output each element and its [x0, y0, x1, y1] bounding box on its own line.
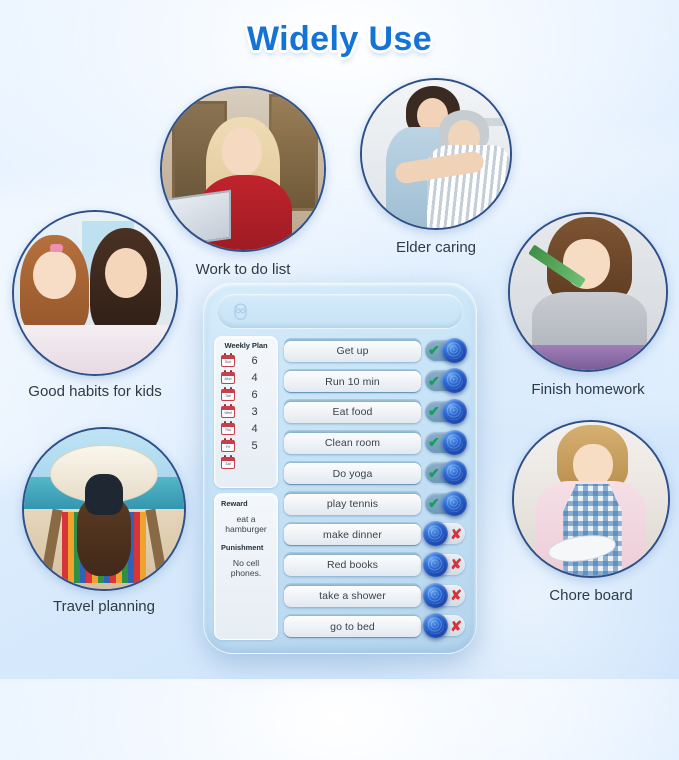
task-row: make dinner ✘ [284, 520, 466, 549]
punishment-label: Punishment [219, 543, 273, 552]
weekly-plan-row: Thu 4 [218, 420, 274, 437]
toggle-knob[interactable] [442, 338, 467, 363]
bubble-finish-homework: Finish homework [508, 212, 668, 398]
weekly-plan-rows: Sun 6 Mon 4 Tue 6 Wed 3 [218, 352, 274, 471]
toggle-knob[interactable] [442, 399, 467, 424]
check-icon: ✔ [428, 343, 440, 357]
task-card-slot: make dinner [284, 522, 421, 546]
task-toggle[interactable]: ✘ [424, 614, 466, 637]
check-icon: ✔ [428, 466, 440, 480]
task-card-slot: Clean room [284, 430, 421, 454]
toggle-knob[interactable] [442, 430, 467, 455]
bubble-caption: Travel planning [22, 598, 186, 615]
reward-punishment-panel: Reward eat a hamburger Punishment No cel… [214, 493, 278, 640]
task-card-slot: Eat food [284, 399, 421, 423]
weekly-plan-value: 5 [235, 440, 274, 452]
toggle-knob[interactable] [423, 613, 448, 638]
reward-label: Reward [219, 499, 273, 508]
page-title: Widely Use [0, 20, 679, 59]
weekly-plan-value: 4 [235, 372, 274, 384]
calendar-icon-tue: Tue [221, 389, 235, 401]
task-label[interactable]: Do yoga [284, 463, 421, 484]
calendar-icon-sun: Sun [221, 355, 235, 367]
task-label[interactable]: make dinner [284, 524, 421, 545]
task-card-slot: Get up [284, 338, 421, 362]
weekly-plan-value: 3 [235, 406, 274, 418]
bubble-caption: Finish homework [508, 381, 668, 398]
task-card-slot: play tennis [284, 491, 421, 515]
calendar-icon-wed: Wed [221, 406, 235, 418]
weekly-plan-row: Mon 4 [218, 369, 274, 386]
task-label[interactable]: play tennis [284, 494, 421, 515]
task-label[interactable]: Run 10 min [284, 371, 421, 392]
photo-girl-writing [508, 212, 668, 372]
task-toggle[interactable]: ✔ [424, 461, 466, 484]
task-row: take a shower ✘ [284, 581, 466, 610]
task-card-slot: Run 10 min [284, 369, 421, 393]
toggle-knob[interactable] [442, 460, 467, 485]
check-icon: ✔ [428, 404, 440, 418]
task-row: Get up ✔ [284, 336, 466, 365]
calendar-icon-thu: Thu [221, 423, 235, 435]
toggle-knob[interactable] [423, 552, 448, 577]
weekly-plan-row: Fri 5 [218, 437, 274, 454]
punishment-value: No cell phones. [219, 552, 273, 587]
cross-icon: ✘ [450, 557, 462, 571]
task-row: go to bed ✘ [284, 611, 466, 640]
task-list: Get up ✔ Run 10 min ✔ [284, 336, 466, 640]
task-row: Do yoga ✔ [284, 458, 466, 487]
weekly-plan-value: 6 [235, 355, 274, 367]
task-label[interactable]: Get up [284, 341, 421, 362]
weekly-plan-panel: Weekly Plan Sun 6 Mon 4 Tue 6 [214, 336, 278, 488]
weekly-plan-title: Weekly Plan [218, 341, 274, 350]
bubble-caption: Work to do list [160, 261, 326, 278]
task-row: play tennis ✔ [284, 489, 466, 518]
bubble-travel-planning: Travel planning [22, 427, 186, 615]
calendar-icon-fri: Fri [221, 440, 235, 452]
bubble-caption: Chore board [512, 587, 670, 604]
chore-board-device: Weekly Plan Sun 6 Mon 4 Tue 6 [203, 282, 477, 654]
task-card-slot: go to bed [284, 614, 421, 638]
owl-icon [231, 302, 250, 321]
cross-icon: ✘ [450, 588, 462, 602]
task-row: Eat food ✔ [284, 397, 466, 426]
task-row: Run 10 min ✔ [284, 367, 466, 396]
task-row: Red books ✘ [284, 550, 466, 579]
device-header-bar [217, 294, 463, 328]
toggle-knob[interactable] [442, 368, 467, 393]
calendar-icon-sat: Sat [221, 457, 235, 469]
toggle-knob[interactable] [442, 491, 467, 516]
photo-two-girls-studying [12, 210, 178, 376]
weekly-plan-row: Sat [218, 454, 274, 471]
bubble-caption: Elder caring [360, 239, 512, 256]
photo-caregiver-and-senior [360, 78, 512, 230]
task-label[interactable]: Eat food [284, 402, 421, 423]
task-toggle[interactable]: ✘ [424, 553, 466, 576]
photo-woman-at-laptop [160, 86, 326, 252]
task-card-slot: take a shower [284, 583, 421, 607]
bubble-work-to-do-list: Work to do list [160, 86, 326, 278]
cross-icon: ✘ [450, 527, 462, 541]
task-label[interactable]: go to bed [284, 616, 421, 637]
calendar-icon-mon: Mon [221, 372, 235, 384]
task-toggle[interactable]: ✔ [424, 339, 466, 362]
weekly-plan-row: Tue 6 [218, 386, 274, 403]
task-toggle[interactable]: ✔ [424, 400, 466, 423]
bubble-good-habits-for-kids: Good habits for kids [12, 210, 178, 400]
task-toggle[interactable]: ✘ [424, 522, 466, 545]
photo-girl-washing-dish [512, 420, 670, 578]
check-icon: ✔ [428, 496, 440, 510]
check-icon: ✔ [428, 374, 440, 388]
task-toggle[interactable]: ✔ [424, 492, 466, 515]
weekly-plan-value: 4 [235, 423, 274, 435]
task-toggle[interactable]: ✘ [424, 584, 466, 607]
toggle-knob[interactable] [423, 583, 448, 608]
task-label[interactable]: Clean room [284, 433, 421, 454]
reward-value: eat a hamburger [219, 508, 273, 543]
task-card-slot: Do yoga [284, 461, 421, 485]
task-toggle[interactable]: ✔ [424, 369, 466, 392]
task-card-slot: Red books [284, 552, 421, 576]
task-toggle[interactable]: ✔ [424, 431, 466, 454]
photo-woman-beach-chair [22, 427, 186, 591]
task-label[interactable]: Red books [284, 555, 421, 576]
task-row: Clean room ✔ [284, 428, 466, 457]
weekly-plan-row: Sun 6 [218, 352, 274, 369]
bubble-elder-caring: Elder caring [360, 78, 512, 256]
check-icon: ✔ [428, 435, 440, 449]
weekly-plan-row: Wed 3 [218, 403, 274, 420]
task-label[interactable]: take a shower [284, 586, 421, 607]
weekly-plan-value: 6 [235, 389, 274, 401]
bubble-caption: Good habits for kids [12, 383, 178, 400]
bubble-chore-board: Chore board [512, 420, 670, 604]
cross-icon: ✘ [450, 619, 462, 633]
